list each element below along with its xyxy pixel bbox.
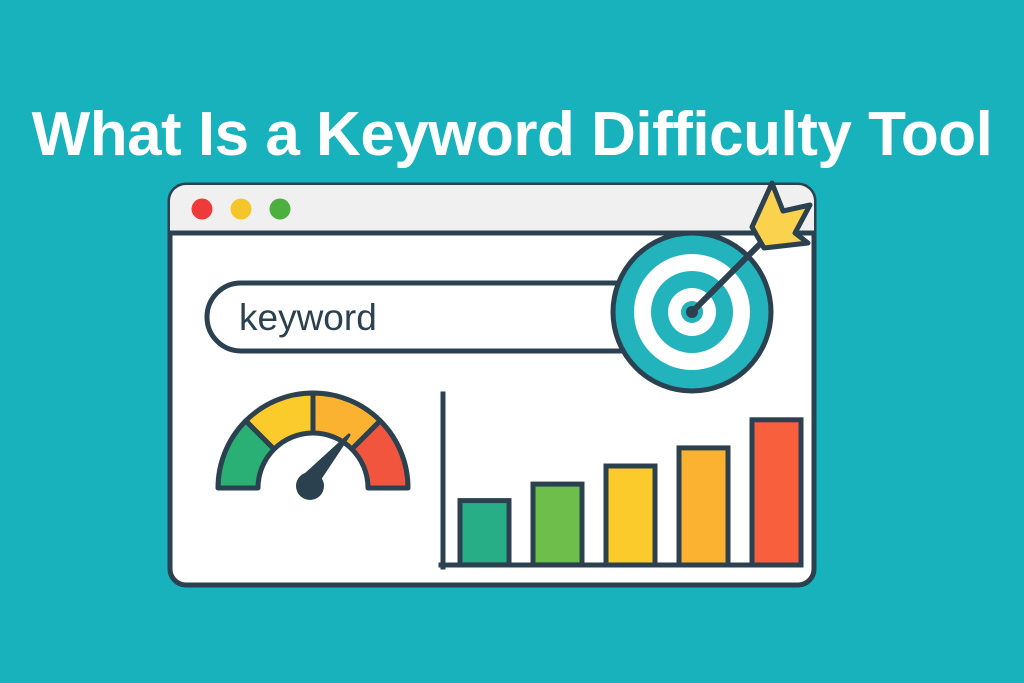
keyword-difficulty-illustration: keyword	[150, 165, 874, 625]
search-input-value: keyword	[239, 297, 377, 338]
maximize-dot[interactable]	[270, 199, 291, 220]
traffic-light-group[interactable]	[192, 199, 291, 220]
chart-bar	[752, 420, 801, 565]
chart-bar	[606, 466, 655, 565]
minimize-dot[interactable]	[231, 199, 252, 220]
close-dot[interactable]	[192, 199, 213, 220]
chart-bar	[679, 448, 728, 565]
chart-bar	[460, 501, 509, 565]
gauge-needle-pivot	[296, 472, 324, 500]
arrow-tip-dot	[686, 306, 698, 318]
page-root: What Is a Keyword Difficulty Tool keywor…	[0, 0, 1024, 683]
browser-titlebar	[170, 185, 814, 233]
page-title: What Is a Keyword Difficulty Tool	[0, 97, 1024, 173]
chart-bar	[533, 484, 582, 565]
